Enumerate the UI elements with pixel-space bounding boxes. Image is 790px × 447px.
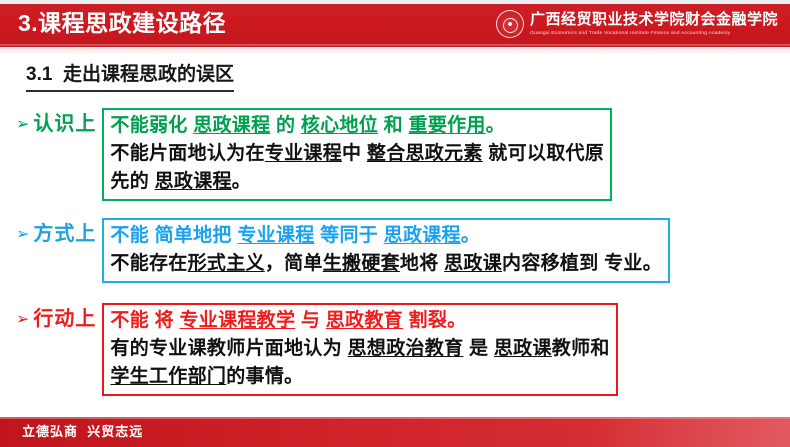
text-segment: 不能存在 [110,253,187,274]
bullet-label-1: 认识上 [33,112,96,136]
text-segment: 与 [295,310,325,331]
emphasis-term: 思政课程 [155,171,232,192]
callout-line: 不能弱化 思政课程 的 核心地位 和 重要作用。 [110,112,604,140]
bullet-row-3: ➢行动上不能 将 专业课程教学 与 思政教育 割裂。有的专业课教师片面地认为 思… [16,303,618,396]
bullet-row-2: ➢方式上不能 简单地把 专业课程 等同于 思政课程。不能存在形式主义，简单生搬硬… [16,218,670,283]
emphasis-term: 整合思政元素 [367,143,483,164]
callout-box-2: 不能 简单地把 专业课程 等同于 思政课程。不能存在形式主义，简单生搬硬套地将 … [102,218,670,283]
chevron-right-icon: ➢ [16,115,29,133]
text-segment: 的 [270,115,300,136]
page-title: 3.课程思政建设路径 [18,7,226,39]
bullet-marker-2: ➢方式上 [16,218,96,246]
text-segment: 中 [342,143,367,164]
text-segment: 的事情。 [226,366,303,387]
text-segment: 。 [232,171,251,192]
emphasis-term: 生搬硬套 [323,253,400,274]
text-segment: 不能 将 [110,310,179,331]
emphasis-term: 重要作用 [409,115,486,136]
text-segment: 有的专业课教师片面地认为 [110,338,347,359]
callout-line: 有的专业课教师片面地认为 思想政治教育 是 思政课教师和 [110,335,609,363]
text-segment: ，简单 [265,253,323,274]
callout-line: 不能 简单地把 专业课程 等同于 思政课程。 [110,222,662,250]
footer-gradient [590,417,790,447]
header-underglow [0,47,790,54]
bullet-label-2: 方式上 [33,222,96,246]
emphasis-term: 思政课程 [384,225,461,246]
emphasis-term: 思政课 [444,253,502,274]
callout-line: 不能 将 专业课程教学 与 思政教育 割裂。 [110,307,609,335]
text-segment: 是 [463,338,493,359]
bullet-label-3: 行动上 [33,307,96,331]
emphasis-term: 专业课程 [265,143,342,164]
emphasis-term: 核心地位 [301,115,378,136]
slide-header: 3.课程思政建设路径 广西经贸职业技术学院财会金融学院 Guangxi Econ… [0,0,790,47]
emphasis-term: 思政课 [494,338,552,359]
text-segment: 。 [486,115,505,136]
callout-box-3: 不能 将 专业课程教学 与 思政教育 割裂。有的专业课教师片面地认为 思想政治教… [102,303,617,396]
slide-footer: 立德弘商 兴贸志远 [0,417,790,447]
callout-line: 学生工作部门的事情。 [110,363,609,391]
text-segment: 割裂。 [403,310,466,331]
text-segment: 。 [461,225,480,246]
emphasis-term: 思政教育 [326,310,403,331]
seal-icon [496,10,524,38]
emphasis-term: 专业课程教学 [179,310,295,331]
text-segment: 不能弱化 [110,115,193,136]
chevron-right-icon: ➢ [16,310,29,328]
bullet-marker-1: ➢认识上 [16,108,96,136]
slide: 3.课程思政建设路径 广西经贸职业技术学院财会金融学院 Guangxi Econ… [0,0,790,447]
footer-slogan: 立德弘商 兴贸志远 [22,423,143,441]
bullet-row-1: ➢认识上不能弱化 思政课程 的 核心地位 和 重要作用。不能片面地认为在专业课程… [16,108,612,201]
text-segment: 不能片面地认为在 [110,143,264,164]
logo-name-en: Guangxi Economics and Trade Vocational I… [530,29,778,37]
callout-line: 不能存在形式主义，简单生搬硬套地将 思政课内容移植到 专业。 [110,250,662,278]
bullet-marker-3: ➢行动上 [16,303,96,331]
emphasis-term: 形式主义 [188,253,265,274]
emphasis-term: 思想政治教育 [348,338,464,359]
chevron-right-icon: ➢ [16,225,29,243]
emphasis-term: 专业课程 [237,225,314,246]
callout-box-1: 不能弱化 思政课程 的 核心地位 和 重要作用。不能片面地认为在专业课程中 整合… [102,108,612,201]
text-segment: 地将 [400,253,444,274]
logo-name-cn: 广西经贸职业技术学院财会金融学院 [530,12,778,29]
emphasis-term: 学生工作部门 [110,366,226,387]
callout-line: 不能片面地认为在专业课程中 整合思政元素 就可以取代原 [110,140,604,168]
text-segment: 内容移植到 专业。 [502,253,662,274]
text-segment: 和 [378,115,408,136]
section-heading: 3.1 走出课程思政的误区 [26,62,234,92]
emphasis-term: 思政课程 [193,115,270,136]
callout-line: 先的 思政课程。 [110,168,604,196]
text-segment: 先的 [110,171,154,192]
text-segment: 不能 简单地把 [110,225,237,246]
text-segment: 教师和 [552,338,610,359]
logo-text-block: 广西经贸职业技术学院财会金融学院 Guangxi Economics and T… [530,12,778,37]
text-segment: 等同于 [315,225,384,246]
text-segment: 就可以取代原 [483,143,604,164]
header-top-strip [0,0,790,4]
institution-logo: 广西经贸职业技术学院财会金融学院 Guangxi Economics and T… [496,8,778,40]
